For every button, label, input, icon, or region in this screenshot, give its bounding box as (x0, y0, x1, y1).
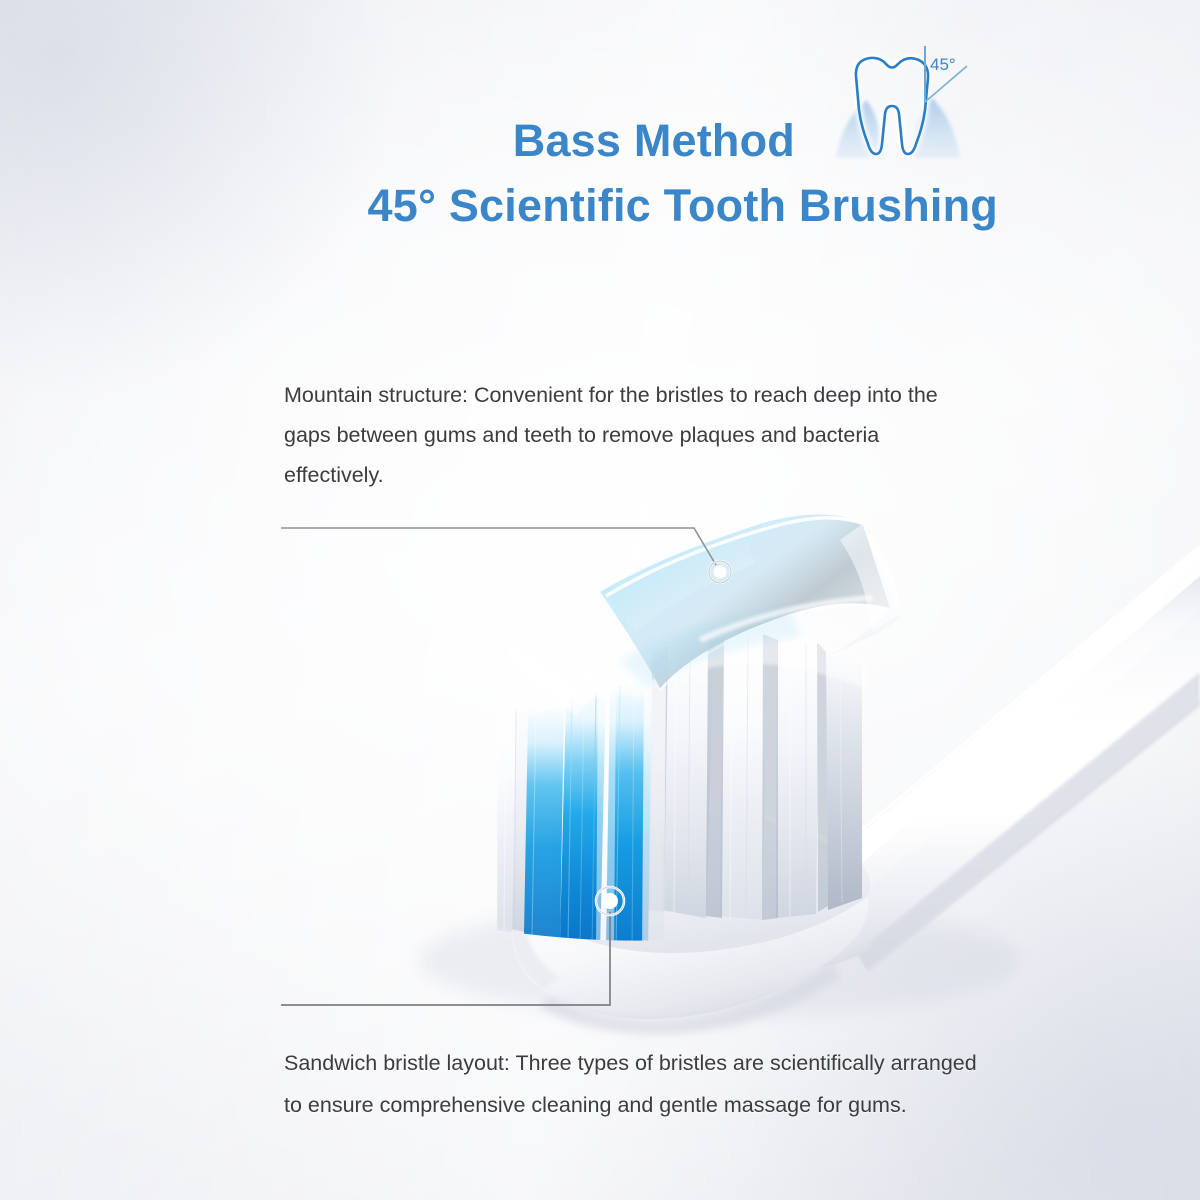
title-line-1: Bass Method (0, 118, 1010, 163)
mountain-structure-description: Mountain structure: Convenient for the b… (284, 375, 984, 495)
product-infographic: 45° Bass Method 45° Scientific Tooth Bru… (0, 0, 1200, 1200)
angle-label: 45° (930, 55, 956, 74)
sandwich-bristle-layout-description: Sandwich bristle layout: Three types of … (284, 1042, 984, 1126)
title-line-2: 45° Scientific Tooth Brushing (0, 183, 1010, 228)
page-title: Bass Method 45° Scientific Tooth Brushin… (0, 118, 1010, 228)
